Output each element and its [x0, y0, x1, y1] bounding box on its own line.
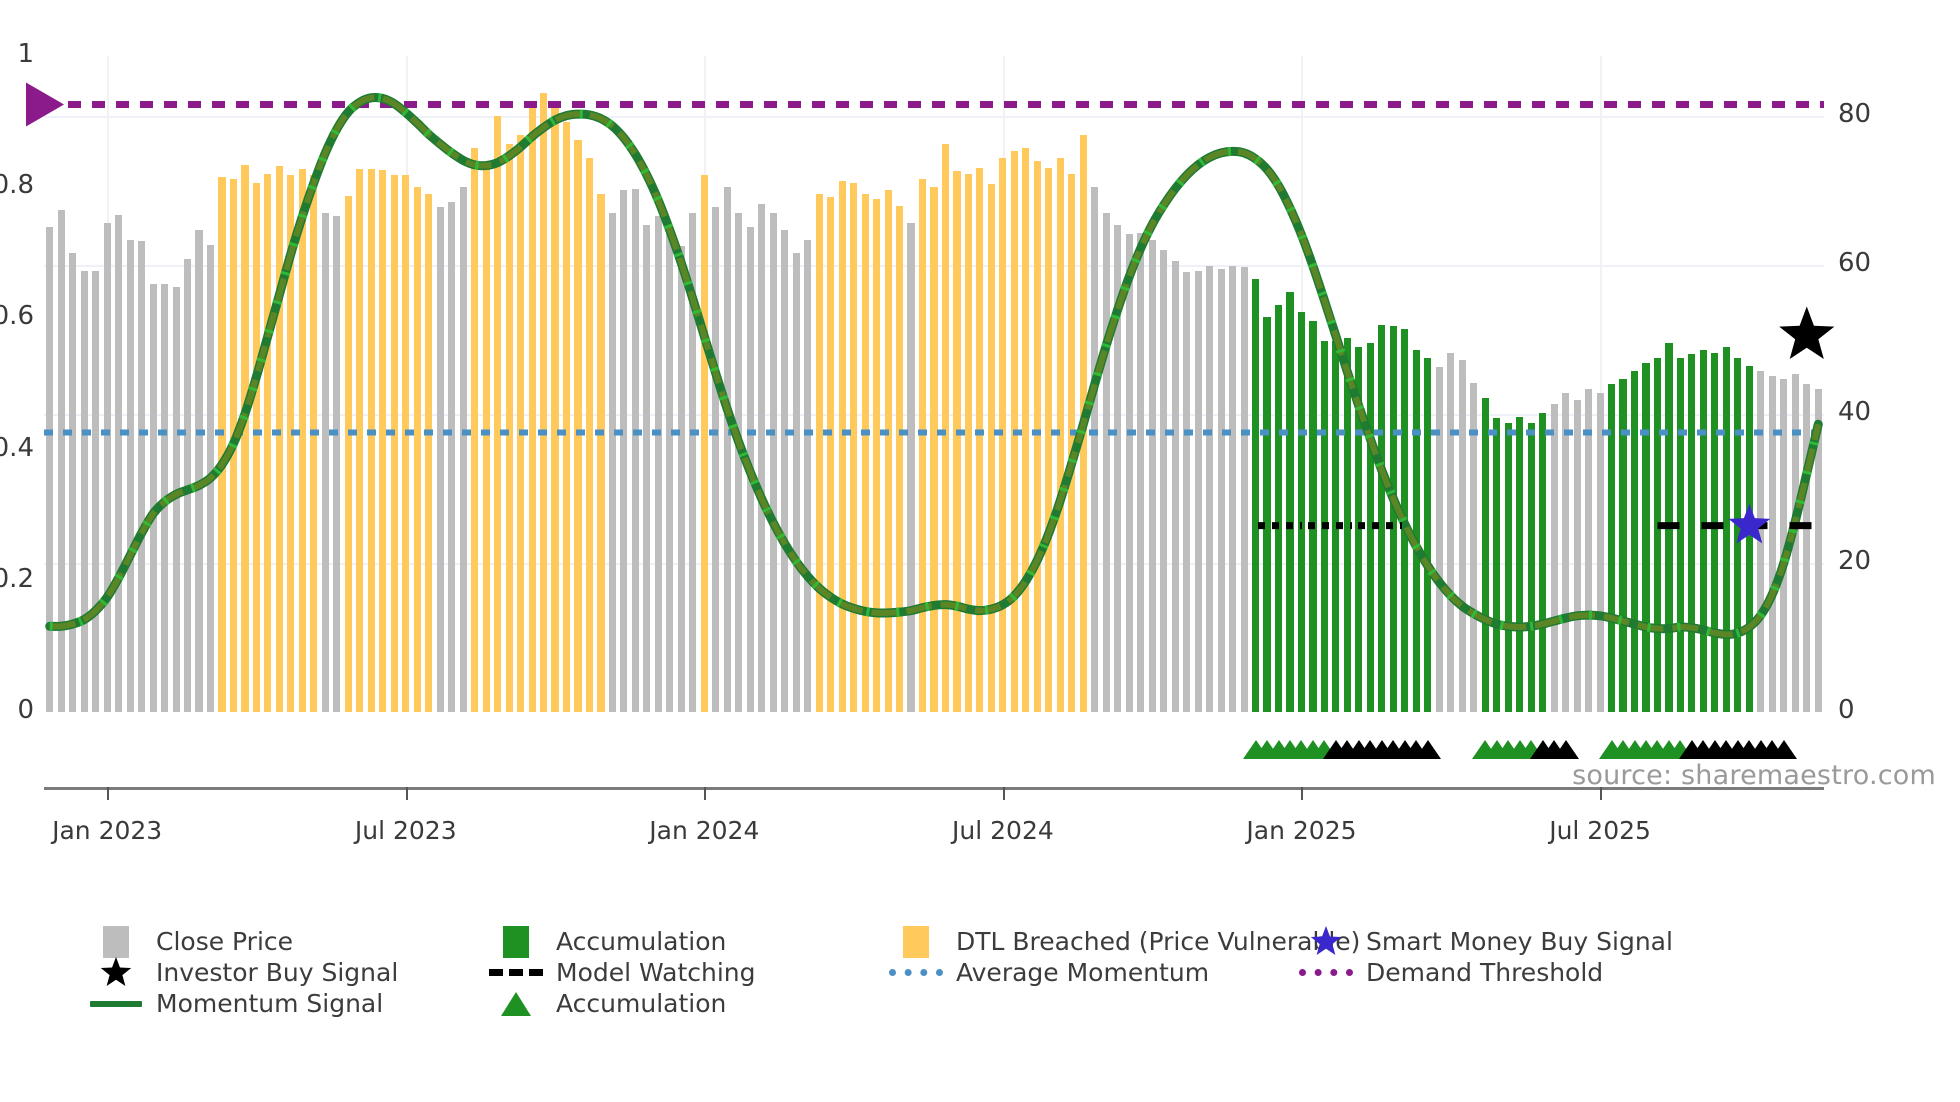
right-axis-tick-label: 0	[1838, 695, 1855, 725]
legend-item-accumulation-triangle[interactable]: Accumulation	[486, 988, 726, 1019]
legend-label: Smart Money Buy Signal	[1366, 927, 1673, 956]
legend-label: Accumulation	[556, 989, 726, 1018]
legend-item-momentum-signal[interactable]: Momentum Signal	[86, 988, 383, 1019]
demand-threshold-start-marker	[26, 82, 64, 126]
model-watching-triangle-marker	[1771, 740, 1797, 759]
x-axis-line	[44, 787, 1824, 790]
left-axis-tick-label: 0.8	[0, 170, 34, 200]
legend-item-smart-money-buy-signal[interactable]: Smart Money Buy Signal	[1296, 926, 1673, 957]
chart-root: 10.80.60.40.20 806040200 Jan 2023Jul 202…	[0, 0, 1960, 1102]
x-axis-tick-label: Jan 2023	[52, 816, 162, 845]
legend-item-demand-threshold[interactable]: Demand Threshold	[1296, 957, 1603, 988]
accumulation-bar-swatch-icon	[503, 926, 529, 958]
investor-buy-signal-star-icon	[99, 956, 133, 990]
smart-money-buy-signal-star	[1728, 504, 1770, 544]
legend-item-investor-buy-signal[interactable]: Investor Buy Signal	[86, 957, 398, 988]
plot-area	[44, 56, 1824, 712]
model-watching-triangle-marker	[1415, 740, 1441, 759]
x-axis-tick-label: Jan 2024	[649, 816, 759, 845]
right-axis-tick-label: 40	[1838, 397, 1871, 427]
legend: Close PriceAccumulationDTL Breached (Pri…	[86, 926, 1926, 1019]
legend-item-model-watching[interactable]: Model Watching	[486, 957, 756, 988]
right-axis-tick-label: 80	[1838, 99, 1871, 129]
legend-label: Demand Threshold	[1366, 958, 1603, 987]
momentum-signal-line-icon	[90, 1001, 142, 1007]
accumulation-triangle-triangle-icon	[500, 990, 532, 1018]
left-axis-tick-label: 0.2	[0, 564, 34, 594]
x-axis-tick	[704, 787, 706, 800]
left-axis-tick-label: 0	[17, 695, 34, 725]
average-momentum-dotted-icon	[889, 969, 943, 976]
model-watching-dashed-icon	[489, 969, 543, 976]
dtl-breached-swatch-icon	[903, 926, 929, 958]
right-axis-tick-label: 60	[1838, 248, 1871, 278]
x-axis-tick	[406, 787, 408, 800]
x-axis-tick-label: Jul 2024	[952, 816, 1054, 845]
smart-money-buy-signal-star-icon	[1309, 925, 1343, 959]
legend-row: Investor Buy SignalModel WatchingAverage…	[86, 957, 1926, 988]
legend-label: Momentum Signal	[156, 989, 383, 1018]
demand-threshold-dotted-icon	[1299, 969, 1353, 976]
left-axis-tick-label: 0.4	[0, 433, 34, 463]
legend-label: Model Watching	[556, 958, 756, 987]
left-axis-tick-label: 1	[17, 39, 34, 69]
legend-row: Close PriceAccumulationDTL Breached (Pri…	[86, 926, 1926, 957]
close-price-swatch-icon	[103, 926, 129, 958]
x-axis-tick-label: Jan 2025	[1246, 816, 1356, 845]
right-axis-tick-label: 20	[1838, 546, 1871, 576]
x-axis-tick	[107, 787, 109, 800]
legend-item-accumulation-bar[interactable]: Accumulation	[486, 926, 726, 957]
legend-label: Accumulation	[556, 927, 726, 956]
legend-label: Investor Buy Signal	[156, 958, 398, 987]
legend-item-close-price[interactable]: Close Price	[86, 926, 293, 957]
x-axis-tick	[1003, 787, 1005, 800]
left-axis-tick-label: 0.6	[0, 301, 34, 331]
x-axis-tick-label: Jul 2025	[1549, 816, 1651, 845]
legend-label: Average Momentum	[956, 958, 1209, 987]
legend-item-dtl-breached[interactable]: DTL Breached (Price Vulnerable)	[886, 926, 1360, 957]
x-axis-tick	[1301, 787, 1303, 800]
x-axis-tick-label: Jul 2023	[355, 816, 457, 845]
legend-item-average-momentum[interactable]: Average Momentum	[886, 957, 1209, 988]
legend-row: Momentum SignalAccumulation	[86, 988, 1926, 1019]
source-watermark: source: sharemaestro.com	[1572, 760, 1936, 791]
overlay-series	[44, 56, 1824, 712]
investor-buy-signal-star	[1779, 307, 1834, 359]
momentum-signal-line	[50, 97, 1819, 634]
model-watching-triangle-marker	[1553, 740, 1579, 759]
legend-label: Close Price	[156, 927, 293, 956]
